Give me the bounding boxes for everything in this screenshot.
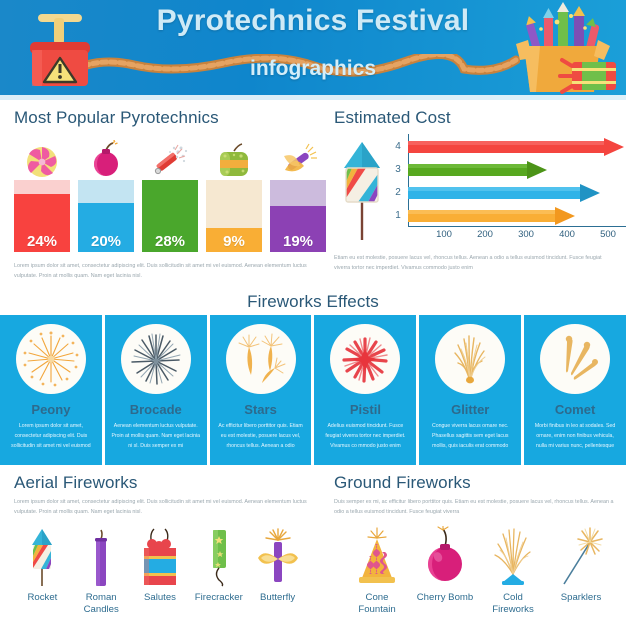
effects-title: Fireworks Effects — [247, 292, 379, 312]
popular-title: Most Popular Pyrotechnics — [14, 108, 308, 128]
aerial-item-label: Firecracker — [195, 592, 243, 604]
peony-burst-icon — [16, 324, 86, 394]
cost-row-label: 2 — [390, 184, 406, 202]
aerial-fireworks-panel: Aerial Fireworks Lorem ipsum dolor sit a… — [0, 465, 320, 614]
aerial-item-rocket[interactable]: Rocket — [14, 526, 71, 616]
bar-value: 28% — [142, 233, 198, 250]
ground-item-sparklers[interactable]: Sparklers — [548, 526, 614, 616]
ground-item-list: Cone Fountain Ch — [344, 526, 616, 616]
aerial-item-roman-candles[interactable]: Roman Candles — [73, 526, 130, 616]
x-tick: 500 — [600, 229, 616, 240]
effect-description: Morbi finibus in leo at sodales. Sed orn… — [524, 422, 626, 452]
aerial-item-butterfly[interactable]: Butterfly — [249, 526, 306, 616]
salute-icon — [206, 138, 262, 180]
bar-item[interactable]: 19% — [270, 138, 326, 252]
brocade-burst-icon — [121, 324, 191, 394]
ground-item-label: Cherry Bomb — [417, 592, 474, 604]
effect-description: Ac efficitur libero porttitor quis. Etia… — [210, 422, 312, 452]
popular-caption: Lorem ipsum dolor sit amet, consectetur … — [14, 261, 308, 281]
ground-item-label: Sparklers — [561, 592, 602, 604]
bar-track: 19% — [270, 180, 326, 252]
effect-description: Adelius euismod tincidunt. Fusce feugiat… — [314, 422, 416, 452]
effect-card-stars[interactable]: Stars Ac efficitur libero porttitor quis… — [210, 315, 312, 465]
cost-bar-2 — [408, 184, 601, 202]
stats-row: Most Popular Pyrotechnics — [0, 100, 626, 288]
cost-bar-row[interactable]: 2 — [390, 184, 601, 202]
bar-value: 20% — [78, 233, 134, 250]
ground-title: Ground Fireworks — [334, 473, 616, 493]
bar-value: 19% — [270, 233, 326, 250]
aerial-title: Aerial Fireworks — [14, 473, 308, 493]
pistil-burst-icon — [330, 324, 400, 394]
aerial-item-label: Rocket — [27, 592, 57, 604]
cold-firework-icon — [489, 526, 537, 588]
bar-value: 9% — [206, 233, 262, 250]
effect-name: Brocade — [130, 402, 182, 417]
bar-track: 9% — [206, 180, 262, 252]
bar-item[interactable]: 9% — [206, 138, 262, 252]
page-header: Pyrotechnics Festival infographics — [0, 0, 626, 100]
cost-row-label: 4 — [390, 138, 406, 156]
popular-bar-chart: 24% 20% — [14, 136, 308, 252]
cost-bar-chart: 4 3 — [334, 134, 616, 246]
bar-item[interactable]: 20% — [78, 138, 134, 252]
estimated-cost-panel: Estimated Cost — [320, 100, 626, 288]
aerial-item-label: Butterfly — [260, 592, 295, 604]
ground-fireworks-panel: Ground Fireworks Duis semper ex mi, ac e… — [320, 465, 626, 614]
cherry-bomb-icon — [78, 138, 134, 180]
cost-bar-row[interactable]: 4 — [390, 138, 625, 156]
cost-row-label: 1 — [390, 207, 406, 225]
ground-item-cone-fountain[interactable]: Cone Fountain — [344, 526, 410, 616]
ground-item-label: Cold Fireworks — [484, 592, 542, 616]
bar-track: 20% — [78, 180, 134, 252]
stars-burst-icon — [226, 324, 296, 394]
butterfly-firework-icon — [254, 526, 302, 588]
cost-plot-area: 4 3 — [390, 134, 616, 246]
bar-value: 24% — [14, 233, 70, 250]
rocket-icon — [27, 526, 57, 588]
cone-fountain-icon — [353, 526, 401, 588]
header-title-group: Pyrotechnics Festival infographics — [0, 4, 626, 81]
x-tick: 200 — [477, 229, 493, 240]
aerial-item-label: Salutes — [144, 592, 176, 604]
salutes-icon — [138, 526, 182, 588]
bar-track: 24% — [14, 180, 70, 252]
effect-card-glitter[interactable]: Glitter Congue viverra lacus ornare nec.… — [419, 315, 521, 465]
x-axis-ticks: 100 200 300 400 500 — [408, 229, 626, 243]
butterfly-firework-icon — [270, 138, 326, 180]
ground-caption: Duis semper ex mi, ac efficitur libero p… — [334, 497, 616, 517]
effect-name: Pistil — [350, 402, 381, 417]
aerial-caption: Lorem ipsum dolor sit amet, consectetur … — [14, 497, 308, 517]
cherry-bomb-icon — [421, 526, 469, 588]
pinwheel-icon — [14, 138, 70, 180]
cost-bar-3 — [408, 161, 548, 179]
popular-pyrotechnics-panel: Most Popular Pyrotechnics — [0, 100, 320, 288]
x-tick: 100 — [436, 229, 452, 240]
effect-name: Comet — [555, 402, 595, 417]
effect-description: Aenean elementum luctus vulputate. Proin… — [105, 422, 207, 452]
aerial-item-label: Roman Candles — [73, 592, 130, 616]
bar-track: 28% — [142, 180, 198, 252]
rocket-illustration-icon — [334, 134, 390, 246]
effect-card-peony[interactable]: Peony Lorem ipsum dolor sit amet, consec… — [0, 315, 102, 465]
glitter-burst-icon — [435, 324, 505, 394]
aerial-item-firecracker[interactable]: Firecracker — [190, 526, 247, 616]
effects-header: Fireworks Effects — [0, 288, 626, 315]
page-title: Pyrotechnics Festival — [0, 4, 626, 39]
bar-item[interactable]: 28% — [142, 138, 198, 252]
cost-bars: 4 3 — [390, 134, 616, 226]
x-axis — [408, 226, 626, 227]
effect-card-brocade[interactable]: Brocade Aenean elementum luctus vulputat… — [105, 315, 207, 465]
ground-item-label: Cone Fountain — [348, 592, 406, 616]
fireworks-types-row: Aerial Fireworks Lorem ipsum dolor sit a… — [0, 465, 626, 614]
cost-title: Estimated Cost — [334, 108, 616, 128]
cost-caption: Etiam eu est molestie, posuere lacus vel… — [334, 253, 616, 273]
effect-card-pistil[interactable]: Pistil Adelius euismod tincidunt. Fusce … — [314, 315, 416, 465]
cost-bar-row[interactable]: 1 — [390, 207, 576, 225]
cost-bar-row[interactable]: 3 — [390, 161, 548, 179]
effect-card-comet[interactable]: Comet Morbi finibus in leo at sodales. S… — [524, 315, 626, 465]
cost-bar-1 — [408, 207, 576, 225]
sparkler-icon — [557, 526, 605, 588]
page-subtitle: infographics — [0, 57, 626, 81]
aerial-item-list: Rocket Roman Candles — [14, 526, 308, 616]
ground-item-cherry-bomb[interactable]: Cherry Bomb — [412, 526, 478, 616]
x-tick: 400 — [559, 229, 575, 240]
cost-bar-4 — [408, 138, 625, 156]
firecracker-icon — [204, 526, 234, 588]
effect-description: Congue viverra lacus ornare nec. Phasell… — [419, 422, 521, 452]
effect-description: Lorem ipsum dolor sit amet, consectetur … — [0, 422, 102, 452]
aerial-item-salutes[interactable]: Salutes — [132, 526, 189, 616]
effect-name: Stars — [244, 402, 277, 417]
comet-burst-icon — [540, 324, 610, 394]
effect-name: Peony — [31, 402, 70, 417]
roman-candle-icon — [86, 526, 116, 588]
cost-row-label: 3 — [390, 161, 406, 179]
effect-name: Glitter — [451, 402, 489, 417]
firecracker-icon — [142, 138, 198, 180]
x-tick: 300 — [518, 229, 534, 240]
ground-item-cold-fireworks[interactable]: Cold Fireworks — [480, 526, 546, 616]
bar-item[interactable]: 24% — [14, 138, 70, 252]
effects-card-list: Peony Lorem ipsum dolor sit amet, consec… — [0, 315, 626, 465]
